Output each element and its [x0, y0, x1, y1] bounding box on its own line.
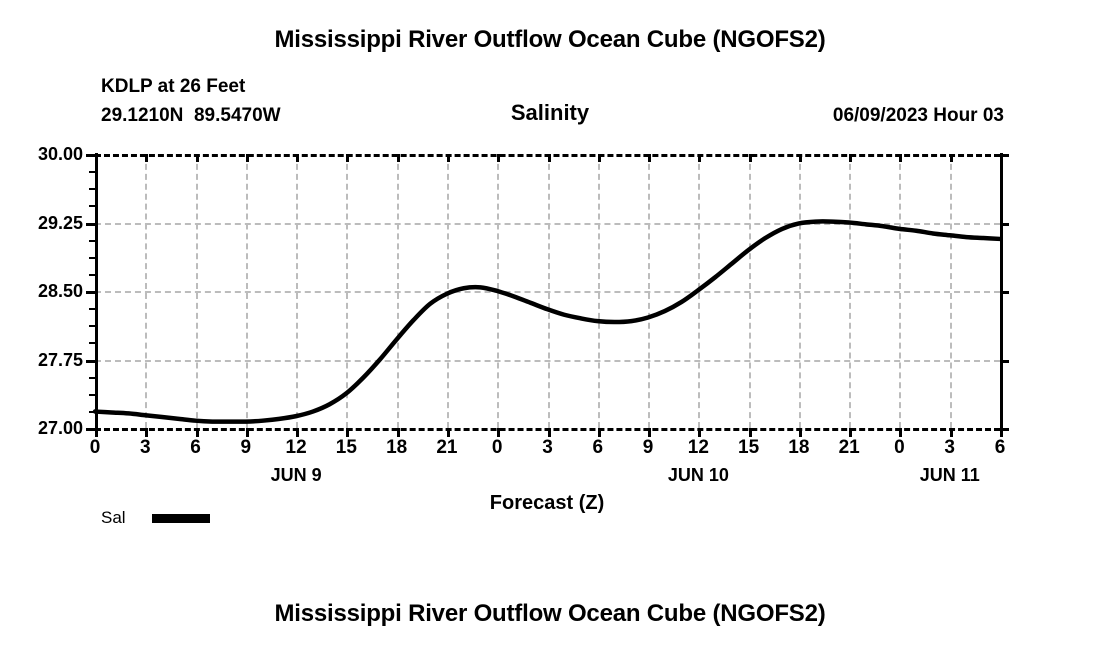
x-tick-label: 0 — [70, 438, 120, 457]
x-tick-label: 0 — [472, 438, 522, 457]
forecast-datetime-label: 06/09/2023 Hour 03 — [833, 105, 1004, 127]
x-tick-label: 18 — [774, 438, 824, 457]
axis-right — [1000, 153, 1003, 429]
legend-label-sal: Sal — [101, 508, 126, 528]
x-axis-day-label: JUN 9 — [236, 466, 356, 484]
x-axis-title: Forecast (Z) — [347, 492, 747, 515]
y-tick-major — [86, 154, 95, 157]
y-tick-major — [86, 428, 95, 431]
x-tick-label: 12 — [673, 438, 723, 457]
axis-bottom — [95, 428, 1000, 431]
y-tick-major — [86, 360, 95, 363]
x-axis-day-label: JUN 10 — [638, 466, 758, 484]
x-tick-label: 0 — [874, 438, 924, 457]
page-title-bottom: Mississippi River Outflow Ocean Cube (NG… — [0, 600, 1100, 628]
series-line-sal — [95, 154, 1000, 428]
legend-swatch-sal — [152, 514, 210, 523]
y-tick-major — [86, 291, 95, 294]
plot-area: 27.0027.7528.5029.2530.00036912151821036… — [95, 154, 1000, 428]
legend: Sal — [101, 508, 210, 528]
page-title-top: Mississippi River Outflow Ocean Cube (NG… — [0, 26, 1100, 54]
x-tick-label: 3 — [523, 438, 573, 457]
x-tick-label: 18 — [372, 438, 422, 457]
x-tick-label: 6 — [573, 438, 623, 457]
x-tick-label: 9 — [221, 438, 271, 457]
y-tick-label: 27.00 — [0, 419, 83, 437]
x-tick-label: 21 — [824, 438, 874, 457]
x-tick-label: 6 — [975, 438, 1025, 457]
x-tick-label: 3 — [925, 438, 975, 457]
x-tick-label: 15 — [321, 438, 371, 457]
chart-page: Mississippi River Outflow Ocean Cube (NG… — [0, 0, 1100, 650]
x-tick-label: 15 — [724, 438, 774, 457]
x-tick-label: 9 — [623, 438, 673, 457]
y-tick-label: 27.75 — [0, 351, 83, 369]
x-tick-label: 12 — [271, 438, 321, 457]
y-tick-label: 29.25 — [0, 214, 83, 232]
x-tick-major — [1000, 428, 1003, 437]
x-tick-label: 6 — [171, 438, 221, 457]
series-path-sal — [95, 221, 1000, 421]
y-tick-label: 28.50 — [0, 282, 83, 300]
y-tick-major — [86, 223, 95, 226]
y-tick-label: 30.00 — [0, 145, 83, 163]
x-tick-label: 3 — [120, 438, 170, 457]
x-tick-label: 21 — [422, 438, 472, 457]
station-label: KDLP at 26 Feet — [101, 76, 245, 98]
x-axis-day-label: JUN 11 — [890, 466, 1010, 484]
